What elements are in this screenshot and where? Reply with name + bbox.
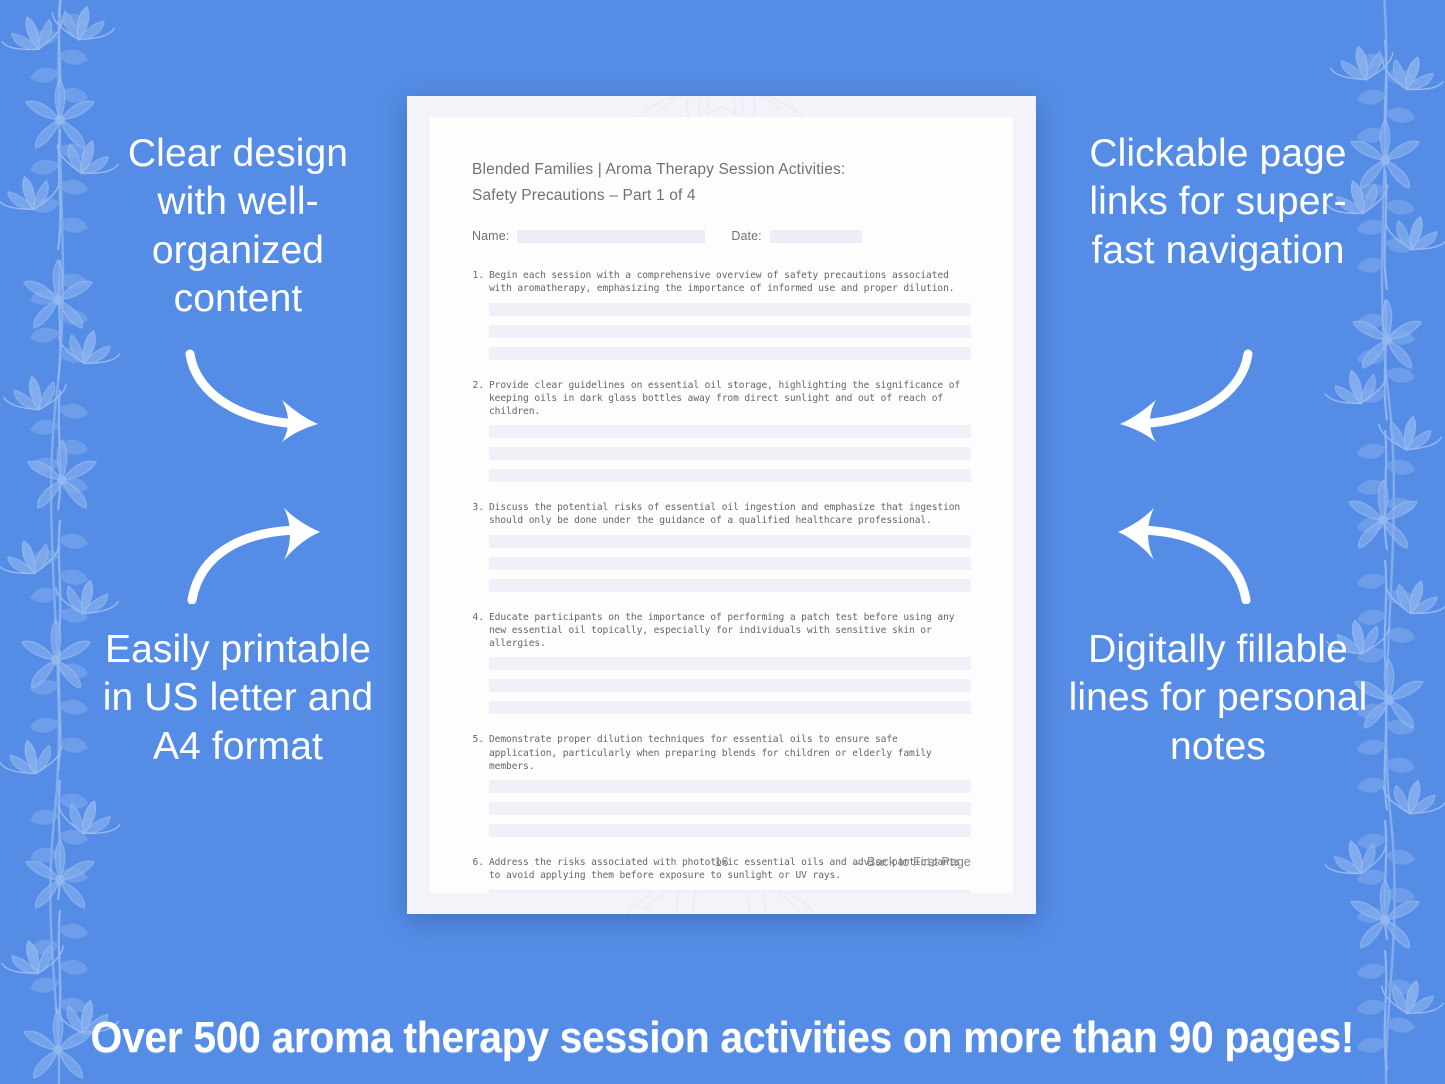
document-preview[interactable]: Blended Families | Aroma Therapy Session… (407, 96, 1036, 914)
fillable-line[interactable] (489, 780, 971, 793)
activity-item-text: Provide clear guidelines on essential oi… (489, 379, 971, 419)
name-label: Name: (472, 229, 509, 243)
promo-banner: Over 500 aroma therapy session activitie… (0, 992, 1445, 1084)
name-input[interactable] (517, 230, 705, 243)
fillable-line[interactable] (489, 557, 971, 570)
date-label: Date: (731, 229, 761, 243)
blurb-printable: Easily printable in US letter and A4 for… (88, 626, 388, 771)
activity-item: 1.Begin each session with a comprehensiv… (472, 269, 971, 359)
activity-item: 2.Provide clear guidelines on essential … (472, 379, 971, 483)
activity-item: 3.Discuss the potential risks of essenti… (472, 501, 971, 591)
activity-item-row: 1.Begin each session with a comprehensiv… (472, 269, 971, 295)
activity-item-number: 2. (472, 379, 489, 419)
fillable-lines (489, 890, 971, 893)
fillable-line[interactable] (489, 347, 971, 360)
fillable-line[interactable] (489, 535, 971, 548)
activity-item-row: 2.Provide clear guidelines on essential … (472, 379, 971, 419)
fillable-line[interactable] (489, 469, 971, 482)
activity-item-text: Demonstrate proper dilution techniques f… (489, 733, 971, 773)
page-title-line2: Safety Precautions – Part 1 of 4 (472, 187, 696, 204)
page-title: Blended Families | Aroma Therapy Session… (472, 157, 971, 209)
blurb-fillable-lines: Digitally fillable lines for personal no… (1063, 626, 1373, 771)
document-page: Blended Families | Aroma Therapy Session… (430, 117, 1013, 893)
fillable-lines (489, 657, 971, 714)
activity-item-number: 4. (472, 611, 489, 651)
fillable-line[interactable] (489, 303, 971, 316)
blurb-clear-design: Clear design with well-organized content (88, 130, 388, 323)
back-to-first-page-link[interactable]: → Back to First Page (851, 855, 971, 869)
curved-arrow-right-icon (178, 508, 338, 604)
activity-item-text: Begin each session with a comprehensive … (489, 269, 971, 295)
curved-arrow-right-icon (178, 348, 338, 444)
fillable-lines (489, 303, 971, 360)
date-input[interactable] (770, 230, 862, 243)
fillable-line[interactable] (489, 657, 971, 670)
curved-arrow-left-icon (1100, 348, 1260, 444)
activity-item-text: Discuss the potential risks of essential… (489, 501, 971, 527)
promo-banner-text: Over 500 aroma therapy session activitie… (91, 1013, 1354, 1063)
fillable-line[interactable] (489, 802, 971, 815)
fillable-line[interactable] (489, 701, 971, 714)
activity-item-row: 3.Discuss the potential risks of essenti… (472, 501, 971, 527)
fillable-lines (489, 425, 971, 482)
activity-item: 4.Educate participants on the importance… (472, 611, 971, 715)
page-title-line1: Blended Families | Aroma Therapy Session… (472, 161, 845, 178)
blurb-clickable-links: Clickable page links for super-fast navi… (1063, 130, 1373, 275)
activity-list: 1.Begin each session with a comprehensiv… (472, 269, 971, 893)
fillable-line[interactable] (489, 425, 971, 438)
activity-item: 5.Demonstrate proper dilution techniques… (472, 733, 971, 837)
fillable-line[interactable] (489, 325, 971, 338)
activity-item-number: 1. (472, 269, 489, 295)
fillable-line[interactable] (489, 447, 971, 460)
fillable-line[interactable] (489, 824, 971, 837)
activity-item-number: 3. (472, 501, 489, 527)
document-footer: 16 → Back to First Page (472, 855, 971, 869)
activity-item-row: 5.Demonstrate proper dilution techniques… (472, 733, 971, 773)
fillable-line[interactable] (489, 890, 971, 893)
activity-item-number: 5. (472, 733, 489, 773)
fillable-lines (489, 535, 971, 592)
fillable-line[interactable] (489, 579, 971, 592)
activity-item-text: Educate participants on the importance o… (489, 611, 971, 651)
fillable-lines (489, 780, 971, 837)
curved-arrow-left-icon (1100, 508, 1260, 604)
activity-item-row: 4.Educate participants on the importance… (472, 611, 971, 651)
name-date-row: Name: Date: (472, 229, 971, 243)
fillable-line[interactable] (489, 679, 971, 692)
page-number: 16 (715, 855, 729, 869)
